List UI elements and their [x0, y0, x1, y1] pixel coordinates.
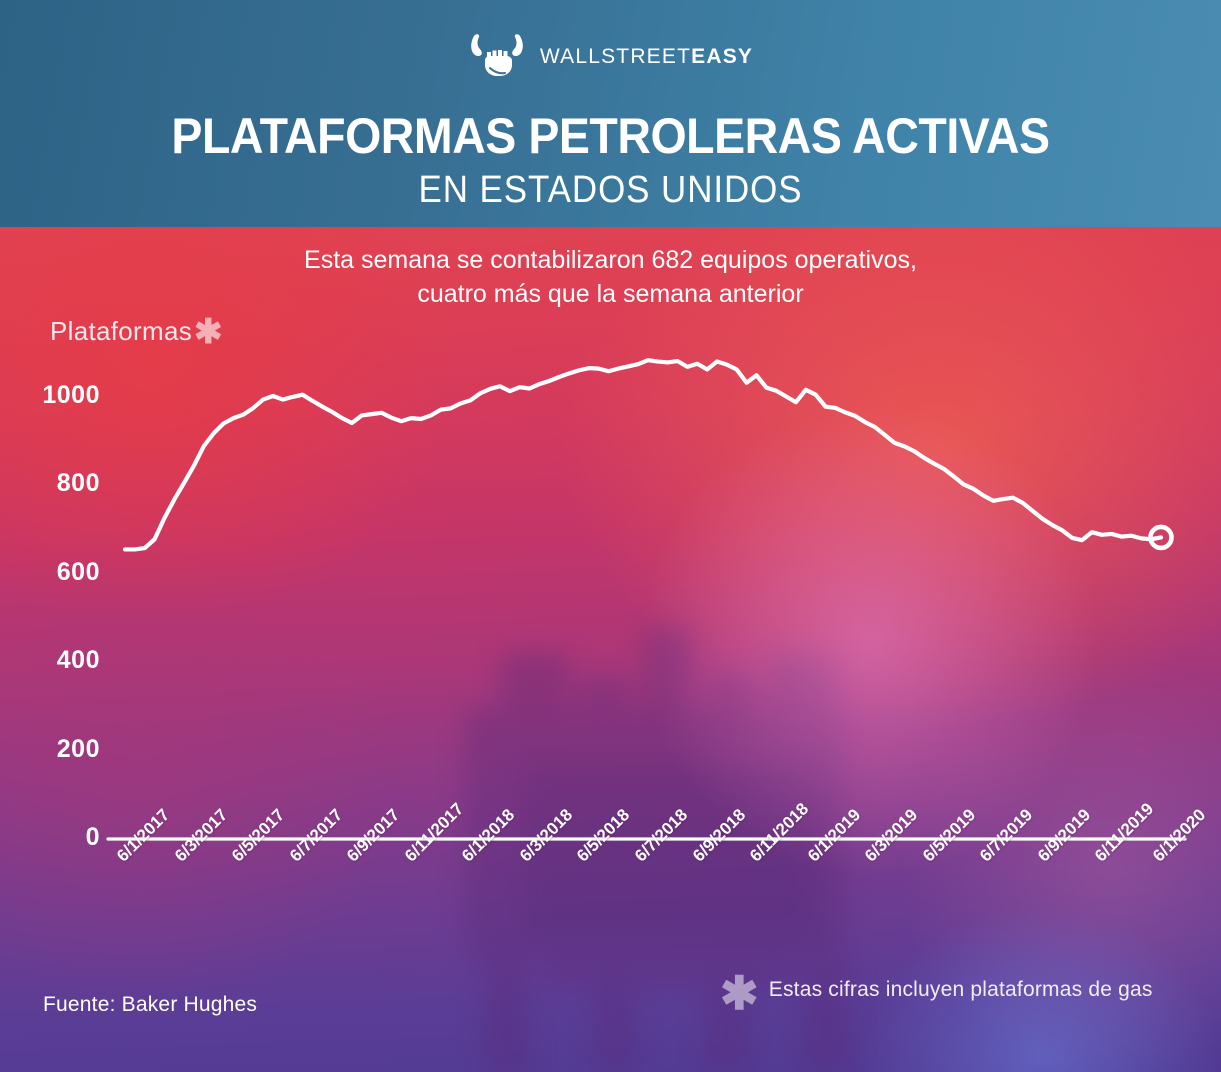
y-axis-tick-label: 200: [0, 735, 100, 764]
y-axis-tick-label: 600: [0, 558, 100, 587]
asterisk-icon: ✱: [720, 981, 759, 1005]
y-axis-tick-label: 800: [0, 469, 100, 498]
source-note: Fuente: Baker Hughes: [43, 993, 257, 1017]
footnote-text: Estas cifras incluyen plataformas de gas: [769, 978, 1153, 1002]
infographic-page: WALLSTREETEASY PLATAFORMAS PETROLERAS AC…: [0, 0, 1221, 1072]
footnote: ✱ Estas cifras incluyen plataformas de g…: [720, 978, 1153, 1002]
y-axis-tick-label: 0: [0, 823, 100, 852]
y-axis-tick-label: 400: [0, 646, 100, 675]
y-axis-tick-label: 1000: [0, 381, 100, 410]
line-chart: [0, 0, 1221, 1072]
